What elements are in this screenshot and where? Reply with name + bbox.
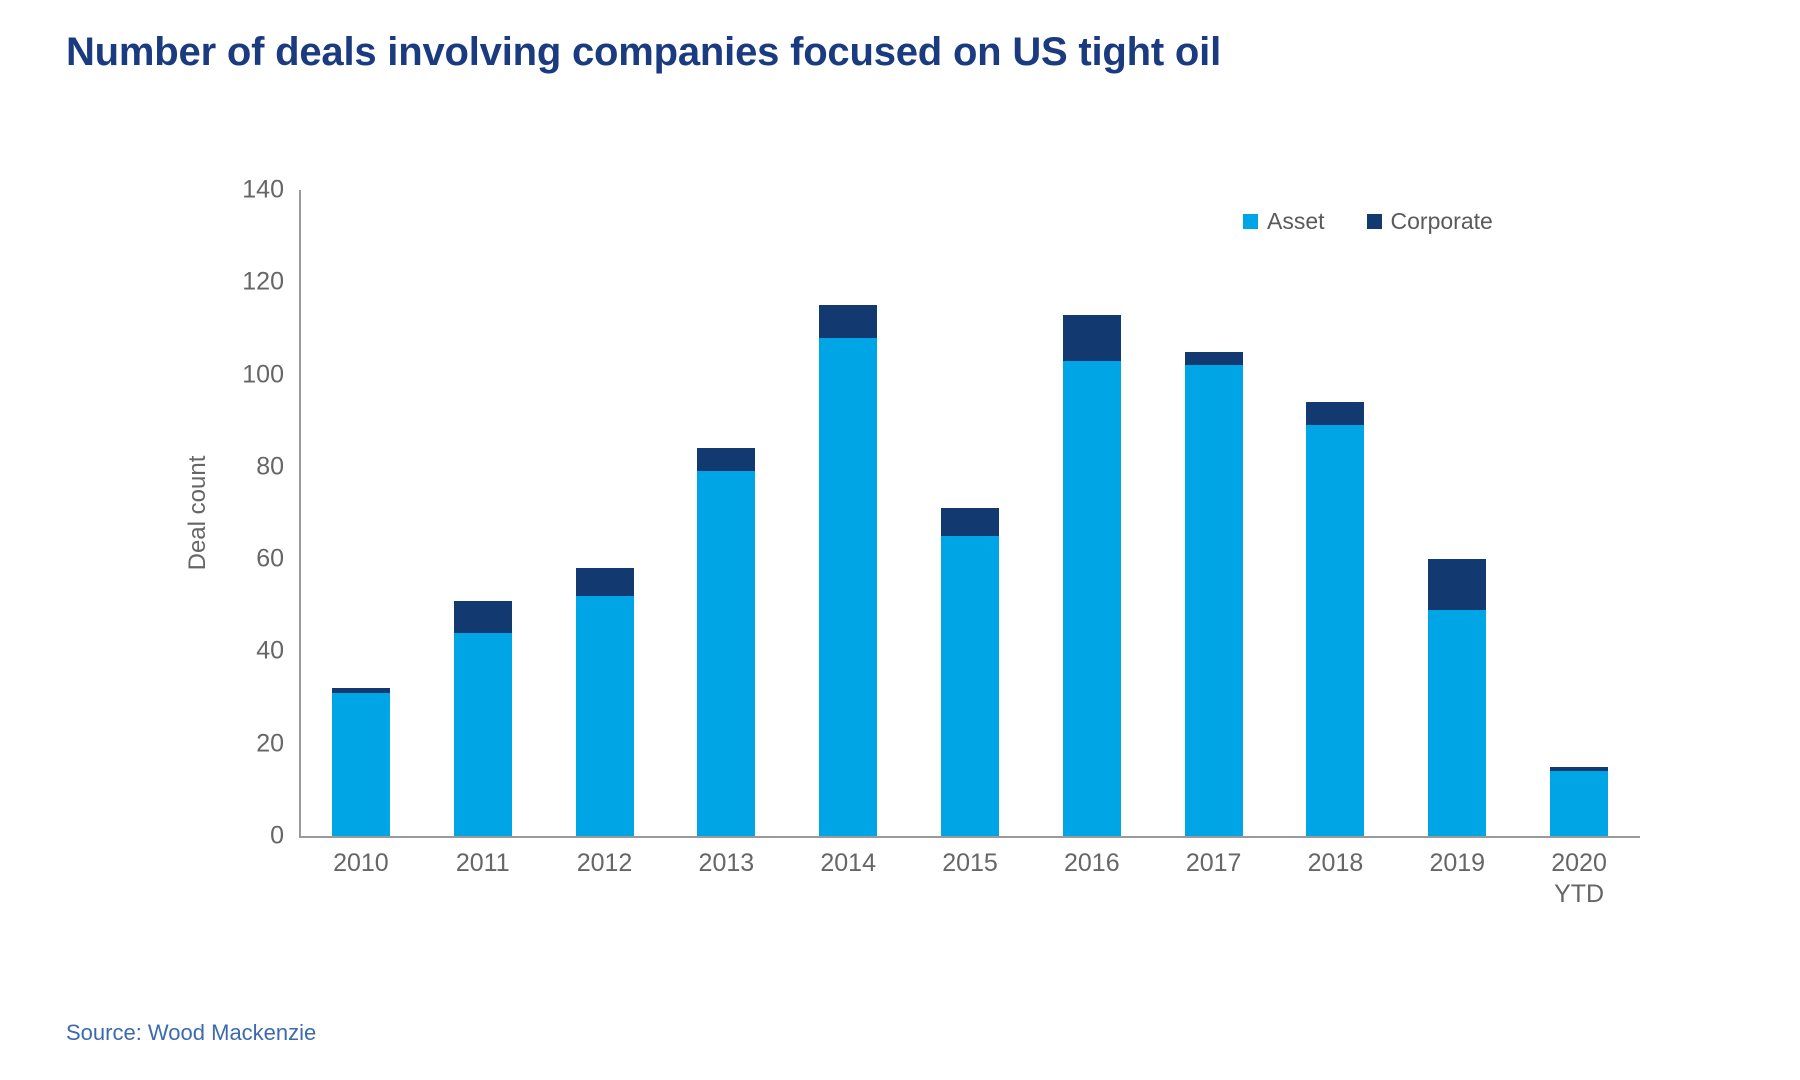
bar-column[interactable] (1428, 190, 1486, 836)
bar-segment-corporate[interactable] (576, 568, 634, 596)
bar-segment-corporate[interactable] (454, 601, 512, 633)
x-tick-label: 2017 (1186, 848, 1242, 879)
x-tick-label: 2010 (333, 848, 389, 879)
x-tick-label: 2015 (942, 848, 998, 879)
bar-column[interactable] (576, 190, 634, 836)
y-tick-label: 120 (204, 268, 284, 297)
y-tick-label: 0 (204, 822, 284, 851)
legend-item-asset[interactable]: Asset (1243, 208, 1325, 235)
bar-segment-asset[interactable] (819, 338, 877, 836)
bar-column[interactable] (1063, 190, 1121, 836)
legend-item-corporate[interactable]: Corporate (1367, 208, 1493, 235)
bar-column[interactable] (819, 190, 877, 836)
chart-legend: Asset Corporate (1243, 208, 1493, 235)
x-tick-label: 2013 (699, 848, 755, 879)
bar-column[interactable] (697, 190, 755, 836)
x-tick-label: 2018 (1308, 848, 1364, 879)
y-tick-label: 40 (204, 637, 284, 666)
bar-column[interactable] (454, 190, 512, 836)
bar-column[interactable] (332, 190, 390, 836)
legend-swatch-corporate-icon (1367, 214, 1382, 229)
bar-segment-asset[interactable] (454, 633, 512, 836)
y-tick-label: 20 (204, 729, 284, 758)
bar-segment-corporate[interactable] (1185, 352, 1243, 366)
bar-segment-corporate[interactable] (1063, 315, 1121, 361)
legend-swatch-asset-icon (1243, 214, 1258, 229)
x-tick-label: 2012 (577, 848, 633, 879)
bar-segment-asset[interactable] (576, 596, 634, 836)
y-tick-label: 100 (204, 360, 284, 389)
bar-segment-asset[interactable] (332, 693, 390, 836)
bar-series-container (300, 190, 1640, 836)
bar-segment-corporate[interactable] (1306, 402, 1364, 425)
bar-column[interactable] (1185, 190, 1243, 836)
bar-segment-asset[interactable] (1306, 425, 1364, 836)
bar-segment-asset[interactable] (941, 536, 999, 836)
x-tick-label: 2019 (1429, 848, 1485, 879)
x-tick-label: 2020 YTD (1551, 848, 1607, 911)
bar-column[interactable] (1306, 190, 1364, 836)
bar-segment-asset[interactable] (697, 471, 755, 836)
y-tick-label: 80 (204, 452, 284, 481)
legend-label-asset: Asset (1267, 208, 1325, 235)
bar-segment-corporate[interactable] (819, 305, 877, 337)
bar-segment-asset[interactable] (1063, 361, 1121, 836)
x-axis-line (299, 836, 1640, 838)
x-tick-label: 2011 (456, 848, 510, 879)
y-tick-label: 60 (204, 545, 284, 574)
bar-column[interactable] (941, 190, 999, 836)
legend-label-corporate: Corporate (1391, 208, 1493, 235)
y-tick-label: 140 (204, 176, 284, 205)
bar-segment-asset[interactable] (1550, 771, 1608, 836)
bar-segment-asset[interactable] (1428, 610, 1486, 836)
bar-segment-corporate[interactable] (941, 508, 999, 536)
stacked-bar-chart: Deal count 020406080100120140 2010201120… (0, 0, 1800, 1080)
x-tick-label: 2016 (1064, 848, 1120, 879)
bar-segment-corporate[interactable] (697, 448, 755, 471)
x-tick-label: 2014 (820, 848, 876, 879)
bar-segment-asset[interactable] (1185, 365, 1243, 836)
source-note: Source: Wood Mackenzie (66, 1020, 316, 1046)
bar-segment-corporate[interactable] (1428, 559, 1486, 610)
bar-column[interactable] (1550, 190, 1608, 836)
